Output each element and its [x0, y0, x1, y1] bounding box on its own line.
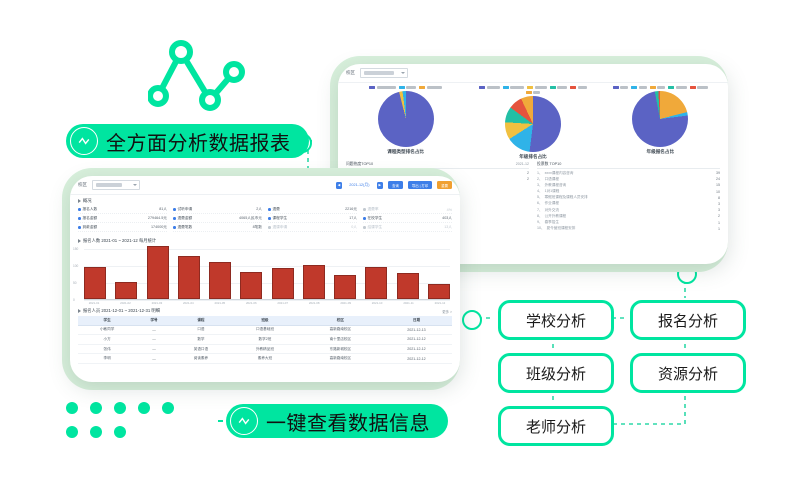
chart-bar[interactable]: [334, 275, 356, 299]
list-votes-top10: 投票数 TOP10 1、xxxx课程内容咨询392、口语课程243、外教课程咨询…: [537, 162, 720, 232]
x-tick-label: 2021-09: [336, 301, 356, 305]
bottom-filter-label: 校区: [78, 182, 87, 188]
bullet-icon: [173, 226, 176, 229]
list-item[interactable]: 5、寒假班课程及课程人员安排8: [537, 195, 720, 200]
table-cell: 张伟: [78, 344, 136, 354]
chart-bar[interactable]: [178, 256, 200, 299]
chart-bar[interactable]: [240, 272, 262, 299]
table-cell: 2021-12-13: [381, 325, 452, 335]
wave-circle-icon: [230, 407, 258, 435]
x-tick-label: 2021-06: [241, 301, 261, 305]
search-button[interactable]: 查询: [388, 181, 403, 189]
bullet-icon: [363, 208, 366, 211]
table-row[interactable]: 张伟—英语口语外教精品班东路新城校区2021-12-12: [78, 344, 452, 354]
x-tick-label: 2021-03: [147, 301, 167, 305]
callout-bottom[interactable]: 一键查看数据信息: [226, 404, 448, 438]
overview-stat: 退费笔数8笔数: [173, 225, 262, 232]
list-item-index: 10、: [537, 226, 545, 231]
bullet-icon: [78, 208, 81, 211]
pie-legend-1: [347, 86, 465, 89]
stat-value: 174000元: [151, 225, 167, 230]
list-item-index: 4、: [537, 189, 543, 194]
list-item[interactable]: 2、口语课程24: [537, 177, 720, 182]
stat-value: 17人: [349, 216, 357, 221]
chart-bar[interactable]: [365, 267, 387, 299]
list-item-label: 公开外教课程: [545, 214, 567, 219]
chart-bar[interactable]: [397, 273, 419, 299]
top-campus-select[interactable]: [360, 68, 408, 78]
table-cell: 小敏同学: [78, 325, 136, 335]
list-item-label: 寒假班课程及课程人员安排: [545, 195, 588, 200]
bullet-icon: [78, 226, 81, 229]
bullet-icon: [363, 217, 366, 220]
prev-period-button[interactable]: ◀: [336, 182, 343, 189]
list-item[interactable]: 8、公开外教课程2: [537, 214, 720, 219]
stat-value: 4%: [447, 208, 452, 212]
pie-chart-2: [505, 96, 561, 152]
tag-class-analysis[interactable]: 班级分析: [498, 353, 614, 393]
overview-stat: 退费2216元: [268, 207, 357, 214]
table-more-link[interactable]: 更多 >: [442, 309, 452, 314]
bar-chart-section-header: 报名人数 2021-01 ~ 2021-12 每月统计: [70, 235, 460, 244]
overview-section-header: 概况: [70, 195, 460, 204]
list-item-count: 2: [718, 214, 720, 218]
stat-key: 报名金额: [83, 216, 98, 221]
overview-stat: 课程学生17人: [268, 216, 357, 223]
stat-value: 2人: [256, 207, 262, 212]
connector-ring-mid: [462, 310, 482, 330]
list-item-count: 1: [718, 221, 720, 225]
list-item[interactable]: 1、xxxx课程内容咨询39: [537, 171, 720, 176]
y-tick-label: 150: [73, 247, 78, 251]
list-item-index: 2、: [537, 177, 543, 182]
list-item-index: 5、: [537, 195, 543, 200]
table-row[interactable]: 小敏同学—口语口语基础班高新路南校区2021-12-13: [78, 325, 452, 335]
stat-key: 结课学生: [368, 225, 383, 230]
x-tick-label: 2021-11: [399, 301, 419, 305]
table-cell: 素养大班: [230, 354, 300, 364]
pie-legend-2: [474, 86, 592, 94]
callout-top[interactable]: 全方面分析数据报表: [66, 124, 309, 158]
table-cell: 高新路南校区: [300, 325, 381, 335]
table-cell: 高新路南校区: [300, 354, 381, 364]
pie-title-2: 年级排名占比: [474, 154, 592, 160]
x-tick-label: 2021-07: [273, 301, 293, 305]
list-item-index: 1、: [537, 171, 543, 176]
list-item-count: 24: [716, 177, 720, 181]
table-cell: —: [136, 335, 172, 345]
list-item[interactable]: 3、外教课程咨询15: [537, 183, 720, 188]
table-cell: 2021-12-12: [381, 344, 452, 354]
chart-bar[interactable]: [84, 267, 106, 299]
table-row[interactable]: 李明—阅读素养素养大班高新路南校区2021-12-12: [78, 354, 452, 364]
stat-key: 到款金额: [83, 225, 98, 230]
x-tick-label: 2021-01: [84, 301, 104, 305]
list-item-label: 作业课程: [545, 201, 559, 206]
stat-key: 退费笔数: [178, 225, 193, 230]
decorative-dots: [66, 402, 182, 452]
overview-stat: 退课申请0人: [268, 225, 357, 232]
top-filter-label: 校区: [346, 70, 355, 76]
x-tick-label: 2021-10: [367, 301, 387, 305]
stat-key: 试听申请: [178, 207, 193, 212]
list-item-index: 7、: [537, 208, 543, 213]
pie-chart-3: [632, 91, 688, 147]
callout-bottom-label: 一键查看数据信息: [266, 407, 430, 436]
table-cell: 2021-12-12: [381, 335, 452, 345]
stat-value: 403人: [442, 216, 452, 221]
tag-school-analysis[interactable]: 学校分析: [498, 300, 614, 340]
list-item-count: 3: [718, 208, 720, 212]
list-item-label: xxxx课程内容咨询: [545, 171, 574, 176]
list-2-title: 投票数 TOP10: [537, 162, 561, 167]
bottom-dashboard-panel: 校区 ◀ 2021-12(月) ▶ 查询 导出 | 打印 重置 概况 报名人数8…: [70, 176, 460, 382]
stat-key: 退课申请: [273, 225, 288, 230]
list-item-label: 春季招生: [545, 220, 559, 225]
stat-value: 13人: [444, 225, 452, 230]
overview-stat: 试听申请2人: [173, 207, 262, 214]
bar-chart-title: 报名人数 2021-01 ~ 2021-12 每月统计: [83, 238, 156, 244]
list-item-count: 10: [716, 190, 720, 194]
table-cell: 东路新城校区: [300, 344, 381, 354]
table-body: 小敏同学—口语口语基础班高新路南校区2021-12-13小方—数学数学2班南十里…: [78, 325, 452, 363]
chart-bar[interactable]: [115, 282, 137, 299]
stat-key: 退费: [273, 207, 280, 212]
x-tick-label: 2021-02: [115, 301, 135, 305]
list-item-count: 3: [718, 202, 720, 206]
list-item-label: 外教课程咨询: [545, 183, 567, 188]
table-cell: 阅读素养: [172, 354, 230, 364]
tag-teacher-analysis[interactable]: 老师分析: [498, 406, 614, 446]
bullet-icon: [268, 217, 271, 220]
list-item-label: 口语课程: [545, 177, 559, 182]
line-chart-node-icon: [148, 30, 248, 112]
list-item-label: 1对1课程: [545, 189, 560, 194]
list-item-index: 8、: [537, 214, 543, 219]
bullet-icon: [78, 217, 81, 220]
x-tick-label: 2021-05: [210, 301, 230, 305]
bar-chart: 050100150: [84, 246, 450, 300]
overview-stat: 到款金额174000元: [78, 225, 167, 232]
chevron-right-icon: [78, 199, 81, 203]
table-column-header: 班级: [230, 316, 300, 325]
chart-bar[interactable]: [428, 284, 450, 299]
list-item[interactable]: 10、夏令营班课程安排1: [537, 226, 720, 231]
list-item-index: 6、: [537, 201, 543, 206]
pie-chart-1: [378, 91, 434, 147]
votes-list-body: 1、xxxx课程内容咨询392、口语课程243、外教课程咨询154、1对1课程1…: [537, 171, 720, 232]
table-cell: —: [136, 325, 172, 335]
bottom-toolbar: 校区 ◀ 2021-12(月) ▶ 查询 导出 | 打印 重置: [70, 176, 460, 195]
pie-legend-3: [601, 86, 719, 89]
chart-bar[interactable]: [147, 246, 169, 299]
overview-stat: 报名人数81人: [78, 207, 167, 214]
y-tick-label: 50: [73, 281, 77, 285]
x-tick-label: 2021-12: [430, 301, 450, 305]
table-cell: 英语口语: [172, 344, 230, 354]
chart-bar[interactable]: [303, 265, 325, 299]
pie-block-course-type: 课程类型排名占比: [347, 86, 465, 160]
list-item-count: 1: [718, 227, 720, 231]
stat-value: 279464.5元: [148, 216, 167, 221]
table-title: 报名人员 2021-12-01 ~ 2021-12-31 明细: [83, 308, 160, 314]
poster-stage: 校区 课程类型排名占比: [0, 0, 800, 500]
list-item[interactable]: 4、1对1课程10: [537, 189, 720, 194]
table-cell: 小方: [78, 335, 136, 345]
pie-title-3: 年级报名占比: [601, 149, 719, 155]
gridline: [84, 300, 450, 301]
list-item-label: 对外交流: [545, 208, 559, 213]
y-tick-label: 100: [73, 264, 78, 268]
overview-stat: 退费金额4065人民币元: [173, 216, 262, 223]
overview-stat: 报名金额279464.5元: [78, 216, 167, 223]
pie-block-grade-signup: 年级报名占比: [601, 86, 719, 160]
tag-signup-analysis[interactable]: 报名分析: [630, 300, 746, 340]
table-header-row: 学生学号课程班级校区日期: [78, 316, 452, 325]
table-column-header: 学号: [136, 316, 172, 325]
list-item-index: 3、: [537, 183, 543, 188]
bottom-campus-select[interactable]: [92, 180, 140, 190]
stat-value: 0人: [351, 225, 357, 230]
list-item-count: 15: [716, 183, 720, 187]
overview-stat: 退费率4%: [363, 207, 452, 214]
reset-button[interactable]: 重置: [437, 181, 452, 189]
top-toolbar: 校区: [338, 64, 728, 83]
chevron-right-icon: [78, 239, 81, 243]
overview-stat-grid: 报名人数81人试听申请2人退费2216元退费率4%报名金额279464.5元退费…: [70, 204, 460, 235]
bullet-icon: [363, 226, 366, 229]
export-button[interactable]: 导出 | 打印: [408, 181, 432, 189]
table-cell: 口语基础班: [230, 325, 300, 335]
table-column-header: 校区: [300, 316, 381, 325]
overview-stat: 在校学生403人: [363, 216, 452, 223]
stat-value: 8笔数: [253, 225, 262, 230]
table-column-header: 日期: [381, 316, 452, 325]
table-cell: 口语: [172, 325, 230, 335]
list-item[interactable]: 6、作业课程3: [537, 201, 720, 206]
stat-value: 4065人民币元: [239, 216, 262, 221]
chart-bars: [84, 245, 450, 300]
stat-key: 退费率: [368, 207, 379, 212]
bullet-icon: [268, 208, 271, 211]
list-item[interactable]: 7、对外交流3: [537, 208, 720, 213]
pie-block-grade-rank: 年级排名占比: [474, 86, 592, 160]
table-cell: 数学: [172, 335, 230, 345]
list-1-date: 2021-12: [516, 162, 529, 167]
callout-top-label: 全方面分析数据报表: [106, 127, 291, 156]
period-date-value: 2021-12(月): [347, 183, 371, 188]
list-2-header: 投票数 TOP10: [537, 162, 720, 169]
bullet-icon: [268, 226, 271, 229]
next-period-button[interactable]: ▶: [377, 182, 384, 189]
list-item-index: 9、: [537, 220, 543, 225]
table-column-header: 学生: [78, 316, 136, 325]
table-cell: 李明: [78, 354, 136, 364]
signup-detail-table: 学生学号课程班级校区日期 小敏同学—口语口语基础班高新路南校区2021-12-1…: [78, 316, 452, 364]
overview-stat: 结课学生13人: [363, 225, 452, 232]
stat-key: 退费金额: [178, 216, 193, 221]
list-item-count: 39: [716, 171, 720, 175]
pie-chart-row: 课程类型排名占比 年级排名占比: [338, 83, 728, 160]
list-item-count: 8: [718, 196, 720, 200]
bullet-icon: [173, 217, 176, 220]
list-item-label: 夏令营班课程安排: [547, 226, 576, 231]
y-tick-label: 0: [73, 298, 75, 302]
table-cell: 数学2班: [230, 335, 300, 345]
x-tick-label: 2021-08: [304, 301, 324, 305]
table-cell: —: [136, 354, 172, 364]
tag-resource-analysis[interactable]: 资源分析: [630, 353, 746, 393]
stat-key: 在校学生: [368, 216, 383, 221]
chevron-right-icon: [78, 309, 81, 313]
list-item[interactable]: 9、春季招生1: [537, 220, 720, 225]
stat-value: 81人: [159, 207, 167, 212]
bullet-icon: [173, 208, 176, 211]
table-cell: 2021-12-12: [381, 354, 452, 364]
pie-title-1: 课程类型排名占比: [347, 149, 465, 155]
stat-key: 课程学生: [273, 216, 288, 221]
list-item-count: 2: [527, 171, 529, 175]
chart-bar[interactable]: [209, 262, 231, 299]
table-cell: 外教精品班: [230, 344, 300, 354]
overview-title: 概况: [83, 198, 92, 204]
chart-bar[interactable]: [272, 268, 294, 299]
table-cell: 南十里店校区: [300, 335, 381, 345]
table-cell: —: [136, 344, 172, 354]
x-tick-label: 2021-04: [178, 301, 198, 305]
list-item-count: 2: [527, 177, 529, 181]
list-1-title: 问题热度TOP10: [346, 162, 373, 167]
table-row[interactable]: 小方—数学数学2班南十里店校区2021-12-12: [78, 335, 452, 345]
stat-value: 2216元: [345, 207, 357, 212]
stat-key: 报名人数: [83, 207, 98, 212]
table-section-header: 报名人员 2021-12-01 ~ 2021-12-31 明细 更多 >: [70, 305, 460, 314]
table-column-header: 课程: [172, 316, 230, 325]
wave-circle-icon: [70, 127, 98, 155]
